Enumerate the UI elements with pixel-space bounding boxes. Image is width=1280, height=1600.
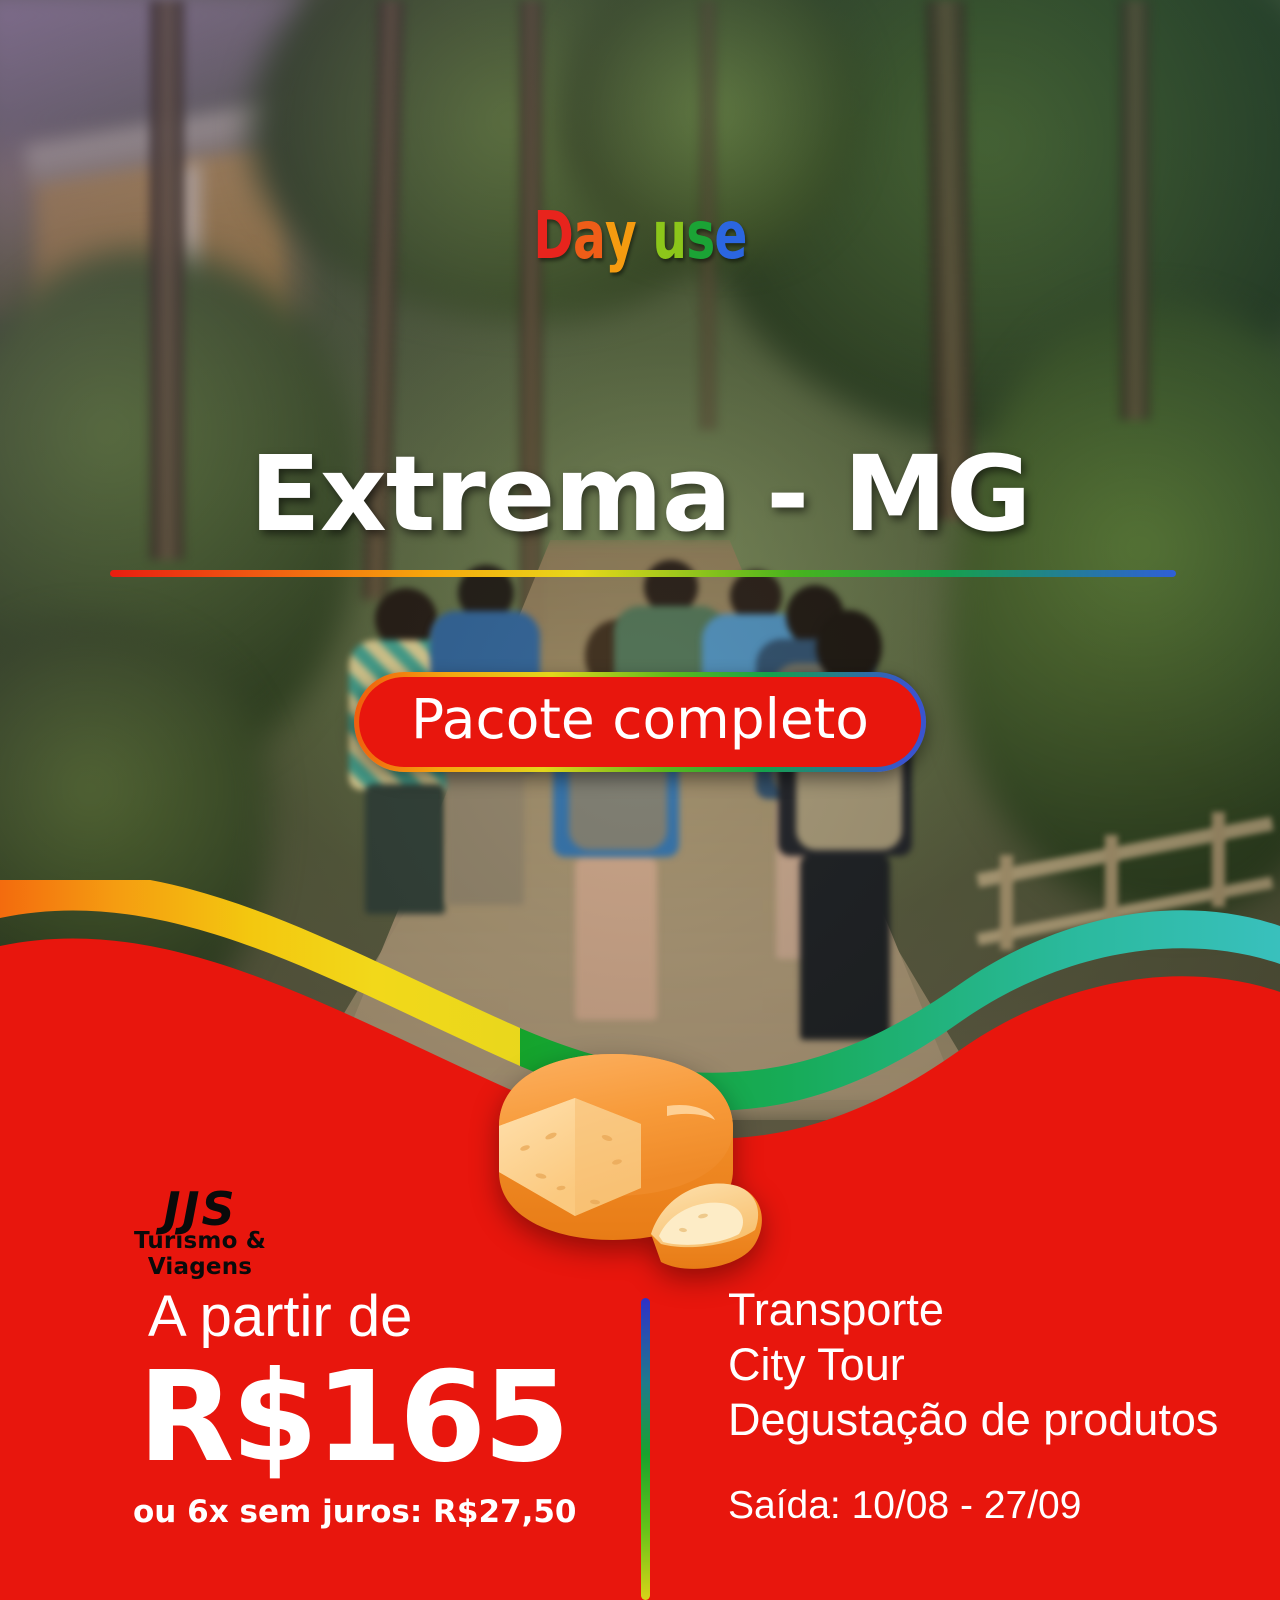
vertical-gradient-divider xyxy=(641,1298,650,1600)
promo-poster: Day use Extrema - MG Pacote completo xyxy=(0,0,1280,1600)
kicker-day-use: Day use xyxy=(115,203,1165,269)
package-badge-label: Pacote completo xyxy=(359,677,921,767)
price-amount: R$165 xyxy=(138,1355,567,1480)
price-prefix-label: A partir de xyxy=(148,1283,412,1350)
package-badge[interactable]: Pacote completo xyxy=(354,672,926,772)
list-item: Degustação de produtos xyxy=(728,1393,1218,1448)
brand-tagline: Turismo & Viagens xyxy=(78,1228,322,1280)
page-title-destination: Extrema - MG xyxy=(0,440,1280,549)
kicker-letter: D xyxy=(533,203,573,269)
includes-list: Transporte City Tour Degustação de produ… xyxy=(728,1283,1218,1448)
rainbow-divider xyxy=(110,570,1176,577)
brand-logo[interactable]: JJS Turismo & Viagens xyxy=(96,986,304,1276)
cheese-wheel-icon xyxy=(455,1020,785,1290)
list-item: Transporte xyxy=(728,1283,1218,1338)
price-installments: ou 6x sem juros: R$27,50 xyxy=(133,1494,577,1530)
departure-dates: Saída: 10/08 - 27/09 xyxy=(728,1484,1081,1528)
kicker-letter: y xyxy=(605,203,636,269)
kicker-letter: u xyxy=(652,203,686,269)
kicker-letter: e xyxy=(714,203,746,269)
list-item: City Tour xyxy=(728,1338,1218,1393)
kicker-space xyxy=(636,203,652,269)
kicker-letter: s xyxy=(686,203,714,269)
kicker-letter: a xyxy=(573,203,605,269)
